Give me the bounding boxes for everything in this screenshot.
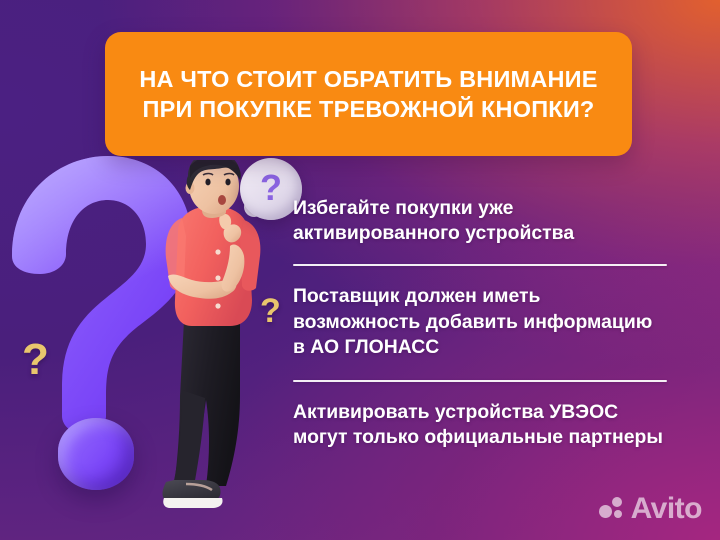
list-item: Избегайте покупки уже активированного ус…	[293, 196, 667, 246]
mini-question-mark-left-icon: ?	[22, 338, 49, 382]
big-question-mark-dot-icon	[58, 418, 134, 490]
avito-watermark: Avito	[599, 492, 702, 526]
advice-list: Избегайте покупки уже активированного ус…	[293, 196, 667, 451]
list-item: Поставщик должен иметь возможность добав…	[293, 284, 667, 360]
avito-logo-icon	[599, 496, 625, 522]
page-title: НА ЧТО СТОИТ ОБРАТИТЬ ВНИМАНИЕ ПРИ ПОКУП…	[105, 64, 632, 124]
list-divider	[293, 380, 667, 382]
poster-canvas: ? ?	[0, 0, 720, 540]
list-divider	[293, 264, 667, 266]
title-card: НА ЧТО СТОИТ ОБРАТИТЬ ВНИМАНИЕ ПРИ ПОКУП…	[105, 32, 632, 156]
avito-brand-label: Avito	[631, 494, 702, 524]
list-item: Активировать устройства УВЭОС могут толь…	[293, 400, 667, 450]
